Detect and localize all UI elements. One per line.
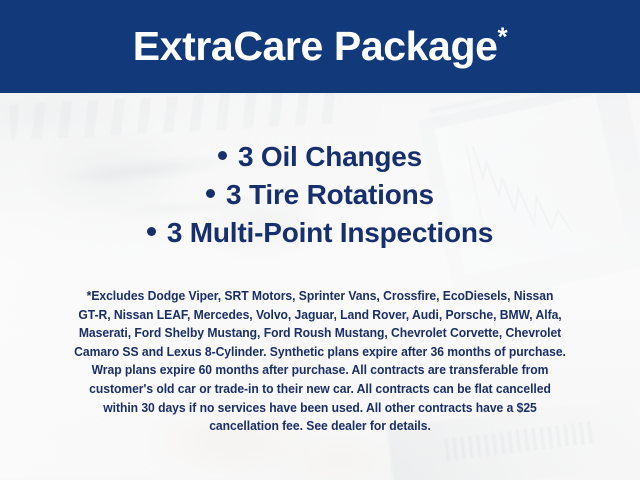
benefit-item-tire-rotations: 3 Tire Rotations <box>0 176 640 214</box>
benefit-item-oil-changes: 3 Oil Changes <box>0 138 640 176</box>
disclaimer-line: customer's old car or trade-in to their … <box>32 380 607 399</box>
benefit-label: 3 Tire Rotations <box>226 179 434 210</box>
disclaimer-text: *Excludes Dodge Viper, SRT Motors, Sprin… <box>22 287 618 436</box>
bullet-icon <box>218 151 227 160</box>
extracare-promo-card: ExtraCare Package* 3 Oil Changes 3 Tire … <box>0 0 640 480</box>
page-title: ExtraCare Package* <box>133 26 507 67</box>
benefit-item-multi-point-inspections: 3 Multi-Point Inspections <box>0 214 640 252</box>
disclaimer-line: GT-R, Nissan LEAF, Mercedes, Volvo, Jagu… <box>32 306 607 325</box>
benefit-label: 3 Oil Changes <box>238 141 422 172</box>
header-banner: ExtraCare Package* <box>0 0 640 93</box>
disclaimer-line: cancellation fee. See dealer for details… <box>32 417 607 436</box>
benefits-list: 3 Oil Changes 3 Tire Rotations 3 Multi-P… <box>0 138 640 252</box>
disclaimer-line: Maserati, Ford Shelby Mustang, Ford Rous… <box>32 324 607 343</box>
disclaimer-line: Camaro SS and Lexus 8-Cylinder. Syntheti… <box>32 343 607 362</box>
bullet-icon <box>147 227 156 236</box>
disclaimer-line: within 30 days if no services have been … <box>32 399 607 418</box>
bullet-icon <box>206 189 215 198</box>
page-title-asterisk: * <box>498 21 508 51</box>
disclaimer-line: *Excludes Dodge Viper, SRT Motors, Sprin… <box>32 287 607 306</box>
disclaimer-line: Wrap plans expire 60 months after purcha… <box>32 361 607 380</box>
page-title-text: ExtraCare Package <box>133 23 498 69</box>
benefit-label: 3 Multi-Point Inspections <box>167 217 493 248</box>
